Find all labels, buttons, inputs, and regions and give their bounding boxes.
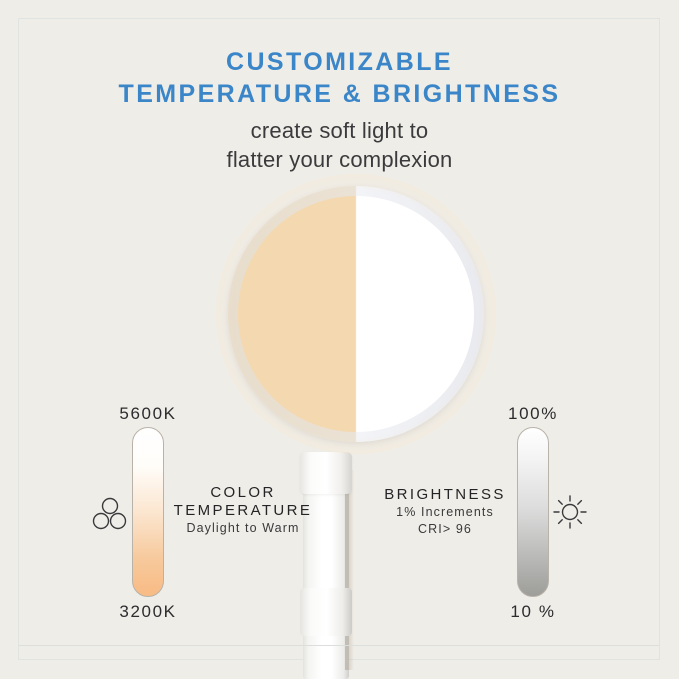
color-temperature-caption: COLOR TEMPERATURE Daylight to Warm [168,484,318,537]
temperature-max-label: 5600K [78,404,218,424]
sun-icon [550,492,590,532]
brightness-caption: BRIGHTNESS 1% Increments CRI> 96 [370,486,520,538]
infographic-canvas: CUSTOMIZABLE TEMPERATURE & BRIGHTNESS cr… [0,0,679,679]
brightness-slider[interactable] [517,427,549,597]
lamp-stem-shadow [345,470,354,670]
temperature-title-line-1: COLOR [168,484,318,502]
brightness-min-label: 10 % [463,602,603,622]
brightness-subtitle-line-1: 1% Increments [370,504,520,521]
brightness-title: BRIGHTNESS [370,486,520,504]
brightness-max-label: 100% [463,404,603,424]
three-circles-icon [88,492,132,536]
temperature-title-line-2: TEMPERATURE [168,502,318,520]
floor-line [19,645,659,646]
temperature-subtitle: Daylight to Warm [168,520,318,537]
color-temperature-slider[interactable] [132,427,164,597]
lamp-head-face-split [238,196,474,432]
lamp-stem-collar [300,588,352,636]
ring-light-illustration [0,0,679,679]
temperature-min-label: 3200K [78,602,218,622]
brightness-subtitle-line-2: CRI> 96 [370,521,520,538]
